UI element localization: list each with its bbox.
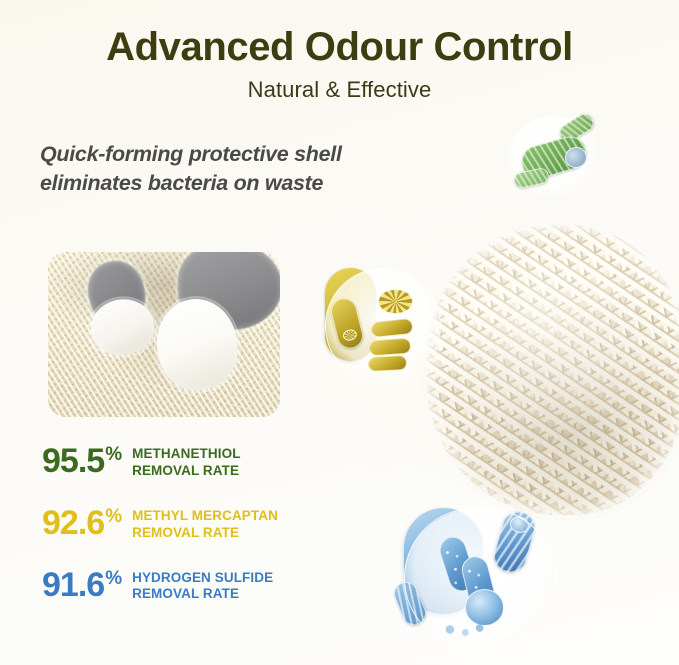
stat-label-line1: METHANETHIOL — [132, 446, 240, 463]
page-subtitle: Natural & Effective — [0, 77, 679, 103]
stat-percent-sign: % — [105, 568, 122, 590]
stat-label-line2: REMOVAL RATE — [132, 586, 273, 603]
stat-label-line1: METHYL MERCAPTAN — [132, 508, 278, 525]
header: Advanced Odour Control Natural & Effecti… — [0, 26, 679, 103]
page-title: Advanced Odour Control — [0, 26, 679, 68]
green-bacteria-cluster — [508, 116, 600, 198]
stat-percent-sign: % — [105, 444, 122, 466]
stat-value: 95.5 — [42, 444, 104, 478]
tofu-litter-pellet-pile — [427, 225, 679, 515]
stat-label-line1: HYDROGEN SULFIDE — [132, 570, 273, 587]
stat-percent-sign: % — [105, 506, 122, 528]
stat-methyl-mercaptan: 92.6 % METHYL MERCAPTAN REMOVAL RATE — [42, 506, 382, 542]
stat-label: HYDROGEN SULFIDE REMOVAL RATE — [132, 570, 273, 604]
stat-methanethiol: 95.5 % METHANETHIOL REMOVAL RATE — [42, 444, 382, 480]
bacteria-bubbles — [440, 617, 495, 642]
stat-label: METHANETHIOL REMOVAL RATE — [132, 446, 240, 480]
stat-value: 92.6 — [42, 506, 104, 540]
blue-bacteria-cluster — [404, 508, 556, 648]
pellet-mass — [427, 225, 679, 515]
removal-rate-stats: 95.5 % METHANETHIOL REMOVAL RATE 92.6 % … — [42, 444, 382, 603]
cat-paw-right — [164, 252, 280, 384]
cat-paws-photo — [48, 252, 280, 417]
stat-label-line2: REMOVAL RATE — [132, 525, 278, 542]
tagline-text: Quick-forming protective shell eliminate… — [40, 140, 380, 197]
paw-toe — [88, 295, 158, 358]
stat-label-line2: REMOVAL RATE — [132, 463, 240, 480]
stat-label: METHYL MERCAPTAN REMOVAL RATE — [132, 508, 278, 542]
bacteria-segment — [369, 337, 412, 356]
stat-hydrogen-sulfide: 91.6 % HYDROGEN SULFIDE REMOVAL RATE — [42, 568, 382, 604]
stat-value: 91.6 — [42, 568, 104, 602]
yellow-bacteria-cluster — [325, 268, 441, 384]
bacteria-segment — [368, 355, 408, 372]
